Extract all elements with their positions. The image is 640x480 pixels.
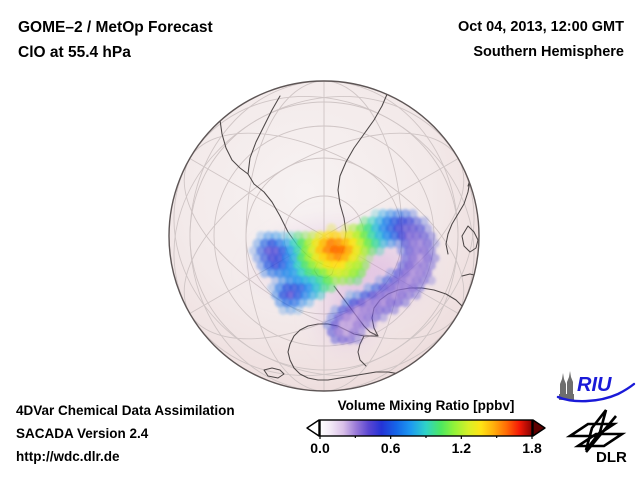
riu-wordmark: RIU — [577, 374, 612, 396]
clo-cell — [412, 291, 421, 300]
region-label: Southern Hemisphere — [458, 40, 624, 65]
clo-cell — [401, 298, 410, 307]
colorbar-tick-labels: 0.00.61.21.8 — [306, 440, 546, 460]
wdc-url[interactable]: http://wdc.dlr.de — [16, 445, 235, 468]
clo-cell — [304, 298, 314, 308]
clo-cell — [390, 305, 399, 314]
colorbar-right-arrow — [533, 420, 545, 436]
instrument-title: GOME–2 / MetOp Forecast — [18, 15, 213, 40]
cathedral-icon — [559, 371, 574, 400]
method-label: 4DVar Chemical Data Assimilation — [16, 399, 235, 422]
orthographic-projection — [168, 80, 480, 392]
colorbar-tick-label: 0.6 — [381, 440, 400, 456]
colorbar-gradient-bar — [306, 417, 546, 439]
clo-cell — [374, 246, 384, 256]
clo-cell — [326, 283, 336, 293]
dlr-wordmark: DLR — [596, 449, 627, 464]
clo-cell — [352, 275, 362, 285]
version-label: SACADA Version 2.4 — [16, 422, 235, 445]
figure-canvas: GOME–2 / MetOp Forecast ClO at 55.4 hPa … — [0, 0, 640, 480]
colorbar: Volume Mixing Ratio [ppbv] 0.00.61.21.8 — [306, 398, 546, 460]
clo-cell — [367, 320, 376, 329]
header-right: Oct 04, 2013, 12:00 GMT Southern Hemisph… — [458, 15, 624, 65]
globe-map — [168, 80, 480, 392]
colorbar-tick-label: 1.8 — [522, 440, 541, 456]
header-left: GOME–2 / MetOp Forecast ClO at 55.4 hPa — [18, 15, 213, 65]
colorbar-body — [320, 420, 532, 436]
footer-left: 4DVar Chemical Data Assimilation SACADA … — [16, 399, 235, 468]
clo-cell — [293, 305, 303, 315]
clo-cell — [353, 335, 362, 344]
clo-cell — [315, 290, 325, 300]
clo-cell — [427, 276, 436, 285]
dlr-mark-icon — [570, 410, 622, 452]
colorbar-title: Volume Mixing Ratio [ppbv] — [306, 398, 546, 413]
colorbar-tick-label: 0.0 — [310, 440, 329, 456]
datetime-label: Oct 04, 2013, 12:00 GMT — [458, 15, 624, 40]
dlr-logo: DLR — [562, 406, 634, 464]
colorbar-tick-label: 1.2 — [452, 440, 471, 456]
riu-logo: RIU — [556, 370, 636, 404]
clo-cell — [379, 313, 388, 322]
species-subtitle: ClO at 55.4 hPa — [18, 40, 213, 65]
colorbar-left-arrow — [307, 420, 319, 436]
